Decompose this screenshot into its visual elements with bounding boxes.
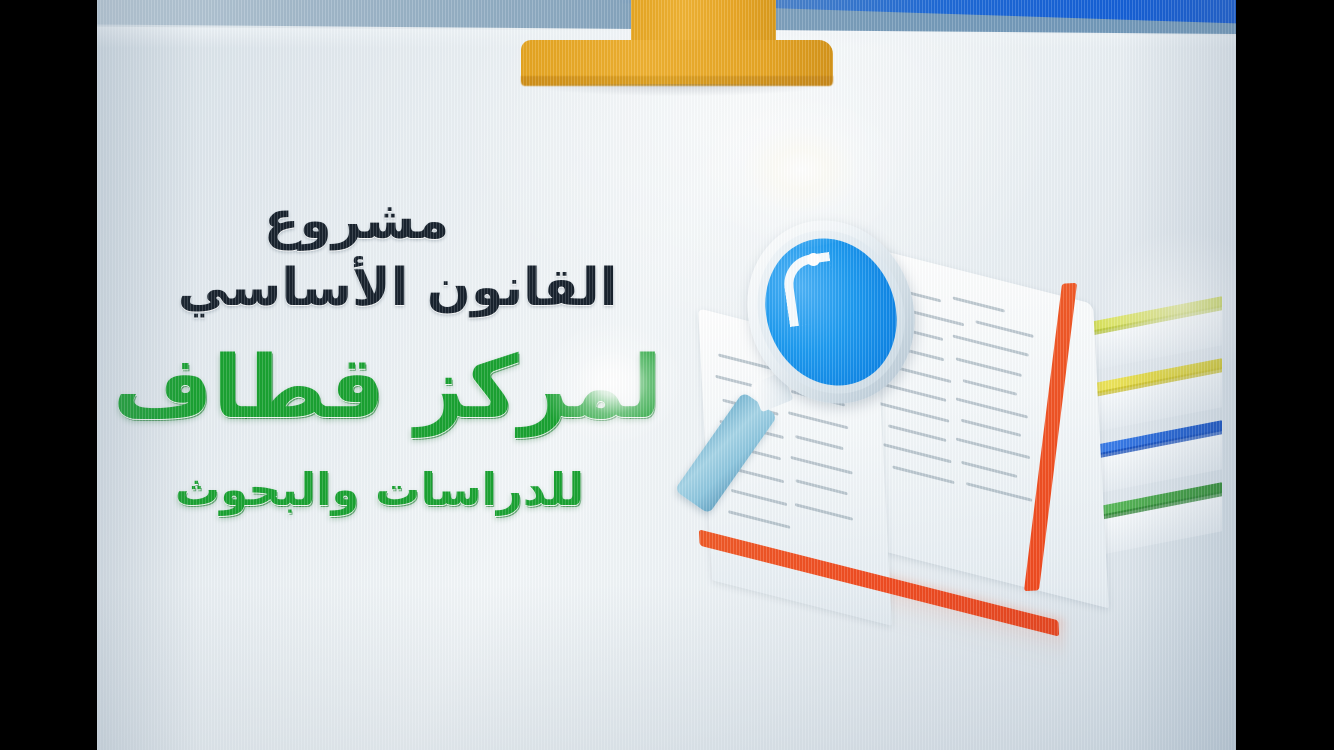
magnifier-icon xyxy=(697,215,927,515)
magnifier-highlight-dot xyxy=(807,253,820,266)
slide-screen: مشروع القانون الأساسي لمركز قطاف للدراسا… xyxy=(97,0,1236,750)
bookmark-shadow xyxy=(525,84,831,96)
title-line-subtitle: القانون الأساسي xyxy=(127,262,672,315)
yellow-bookmark-icon xyxy=(521,0,841,96)
title-line-headline: لمركز قطاف xyxy=(127,345,672,433)
title-line-tagline: للدراسات والبحوث xyxy=(127,467,672,513)
illustration xyxy=(677,215,1236,675)
title-block: مشروع القانون الأساسي لمركز قطاف للدراسا… xyxy=(127,195,672,513)
letterbox-frame: مشروع القانون الأساسي لمركز قطاف للدراسا… xyxy=(0,0,1334,750)
title-line-overline: مشروع xyxy=(127,195,672,248)
